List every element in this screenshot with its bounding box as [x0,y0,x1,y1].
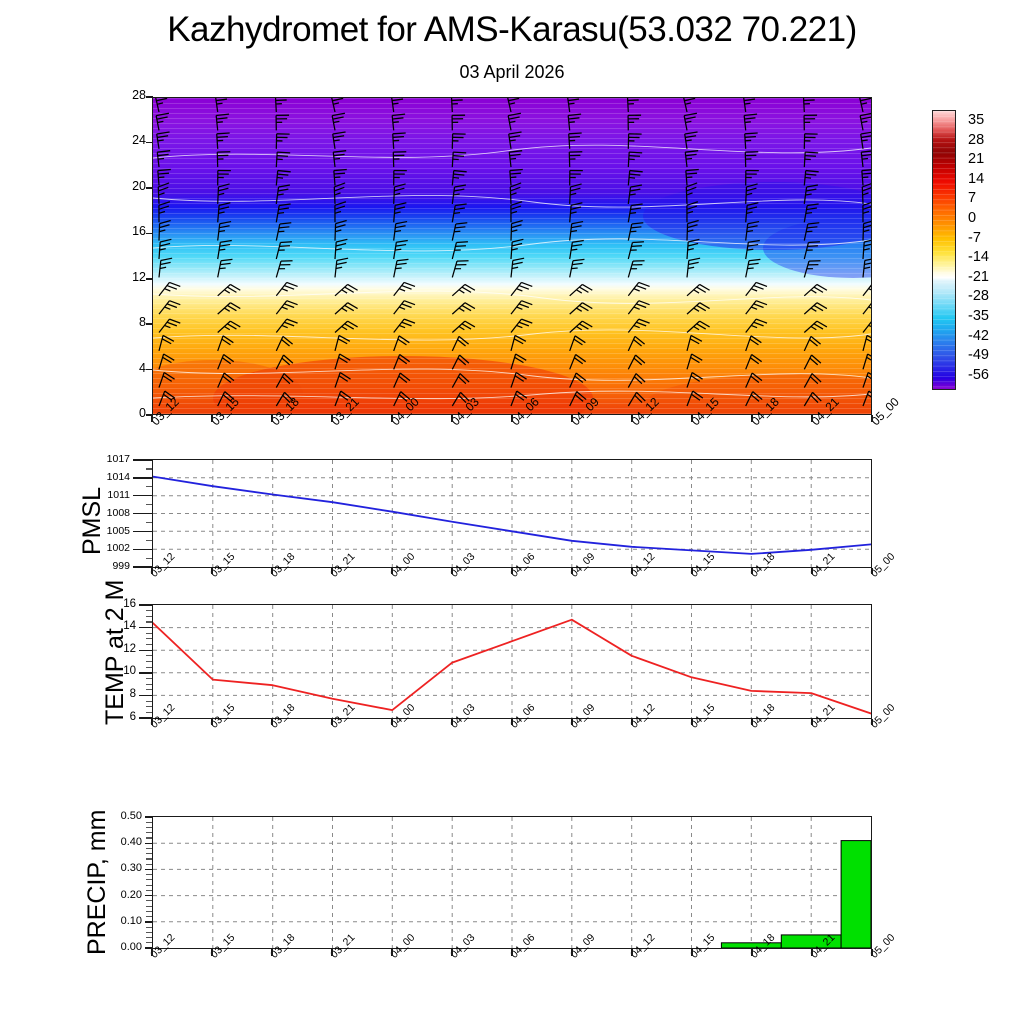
y-minor-tick [146,706,152,707]
cross-section-ytick: 20 [108,180,146,193]
x-tick-mark [511,415,513,422]
y-minor-tick [146,689,152,690]
y-tick-label: 0.50 [108,811,142,822]
y-tick-label: 1005 [100,526,130,537]
y-minor-tick [146,610,152,611]
cross-section-image [153,98,871,414]
cross-section-panel [152,97,872,415]
x-tick-mark [571,568,573,574]
x-tick-mark [511,568,513,574]
x-tick-label: 05_00 [869,551,897,579]
y-tick-label: 1002 [100,543,130,554]
y-tick-mark [133,549,152,550]
x-tick-mark [391,568,393,574]
precip-axis-title: PRECIP, mm [85,810,110,955]
x-tick-mark [691,719,693,725]
precip-bar [841,841,871,948]
y-tick-label: 0.20 [108,890,142,901]
y-minor-tick [146,879,152,880]
y-minor-tick [146,911,152,912]
precip-plot [153,817,871,948]
x-tick-mark [871,719,873,725]
cross-section-ytick-mark [146,96,153,98]
temperature-colorbar [932,110,956,390]
y-tick-label: 999 [100,561,130,572]
x-tick-label: 05_00 [869,702,897,730]
cross-section-ytick: 28 [108,89,146,102]
pmsl-line-chart [153,460,871,567]
y-tick-label: 0.30 [108,863,142,874]
pmsl-panel [152,459,872,568]
y-tick-mark [133,566,152,567]
x-tick-label: 05_00 [869,932,897,960]
x-tick-mark [691,949,693,956]
cross-section-ytick: 16 [108,225,146,238]
x-tick-label: 05_00 [869,395,901,427]
y-minor-tick [146,644,152,645]
colorbar-tick-label: 28 [968,133,984,148]
colorbar-tick-label: 7 [968,191,976,206]
y-tick-mark [133,513,152,514]
x-tick-mark [331,415,333,422]
x-tick-mark [271,949,273,956]
y-minor-tick [146,885,152,886]
colorbar-tick-label: 35 [968,113,984,128]
colorbar-tick-label: -56 [968,368,989,383]
y-tick-label: 14 [120,621,136,633]
cross-section-ytick: 0 [108,407,146,420]
y-tick-label: 1017 [100,454,130,465]
x-tick-mark [751,719,753,725]
y-tick-mark [133,459,152,460]
y-minor-tick [146,906,152,907]
y-tick-label: 1011 [100,490,130,501]
page-title: Kazhydromet for AMS-Karasu(53.032 70.221… [0,10,1024,50]
x-tick-mark [451,719,453,725]
colorbar-tick-label: -42 [968,329,989,344]
x-tick-mark [271,719,273,725]
y-minor-tick [146,864,152,865]
x-tick-mark [511,949,513,956]
y-tick-mark [145,843,152,844]
y-minor-tick [146,900,152,901]
y-minor-tick [146,468,152,469]
x-tick-mark [271,415,273,422]
x-tick-mark [211,568,213,574]
cross-section-ytick: 4 [108,362,146,375]
y-minor-tick [146,633,152,634]
y-minor-tick [146,678,152,679]
x-tick-mark [751,415,753,422]
x-tick-mark [811,719,813,725]
temp2m-panel [152,604,872,719]
y-tick-mark [139,650,152,651]
cross-section-ytick-mark [146,323,153,325]
y-minor-tick [146,540,152,541]
y-minor-tick [146,638,152,639]
x-tick-mark [631,719,633,725]
y-minor-tick [146,504,152,505]
temp2m-plot [153,605,871,718]
x-tick-mark [151,415,153,422]
colorbar-tick-label: -28 [968,289,989,304]
y-tick-label: 8 [120,689,136,701]
x-tick-mark [751,568,753,574]
y-minor-tick [146,667,152,668]
y-tick-mark [133,531,152,532]
y-tick-label: 1014 [100,472,130,483]
cross-section-ytick: 12 [108,271,146,284]
colorbar-tick-label: 21 [968,152,984,167]
precip-panel [152,816,872,949]
cross-section-ytick: 24 [108,134,146,147]
cross-section-ytick-mark [146,278,153,280]
y-minor-tick [146,486,152,487]
y-tick-mark [145,816,152,817]
y-tick-mark [139,627,152,628]
x-tick-mark [331,719,333,725]
temp2m-line-chart [153,605,871,718]
meteogram-page: Kazhydromet for AMS-Karasu(53.032 70.221… [0,0,1024,1024]
cross-section-ytick: 8 [108,316,146,329]
colorbar-gradient [933,111,955,389]
colorbar-tick-label: -7 [968,231,981,246]
x-tick-mark [211,415,213,422]
y-tick-label: 16 [120,599,136,611]
x-tick-mark [691,415,693,422]
y-tick-mark [133,495,152,496]
y-minor-tick [146,837,152,838]
y-tick-label: 6 [120,712,136,724]
y-minor-tick [146,890,152,891]
y-tick-label: 0.10 [108,916,142,927]
precip-bar-chart [153,817,871,948]
x-tick-mark [751,949,753,956]
x-tick-mark [631,568,633,574]
y-minor-tick [146,853,152,854]
x-tick-mark [631,415,633,422]
x-tick-mark [331,949,333,956]
colorbar-tick-label: -14 [968,250,989,265]
y-minor-tick [146,822,152,823]
y-minor-tick [146,932,152,933]
x-tick-mark [271,568,273,574]
colorbar-tick-label: 0 [968,211,976,226]
x-tick-mark [871,949,873,956]
y-minor-tick [146,832,152,833]
x-tick-mark [511,719,513,725]
colorbar-tick-label: 14 [968,172,984,187]
y-tick-mark [133,477,152,478]
x-tick-mark [211,719,213,725]
y-minor-tick [146,522,152,523]
x-tick-mark [811,415,813,422]
y-tick-label: 0.40 [108,837,142,848]
y-minor-tick [146,927,152,928]
y-minor-tick [146,937,152,938]
x-tick-mark [811,949,813,956]
y-minor-tick [146,916,152,917]
x-tick-mark [811,568,813,574]
y-minor-tick [146,701,152,702]
y-tick-mark [145,869,152,870]
y-tick-mark [145,895,152,896]
cross-section-ytick-mark [146,187,153,189]
x-tick-mark [571,415,573,422]
pmsl-plot [153,460,871,567]
x-tick-mark [571,719,573,725]
cross-section-plot [153,98,871,414]
x-tick-mark [391,415,393,422]
x-tick-mark [211,949,213,956]
colorbar-tick-label: -35 [968,309,989,324]
page-subtitle: 03 April 2026 [0,62,1024,83]
y-tick-mark [139,672,152,673]
y-minor-tick [146,661,152,662]
x-tick-mark [451,949,453,956]
y-tick-mark [139,695,152,696]
x-tick-mark [571,949,573,956]
colorbar-tick-label: -49 [968,348,989,363]
y-minor-tick [146,712,152,713]
x-tick-mark [151,568,153,574]
y-tick-label: 10 [120,666,136,678]
y-minor-tick [146,874,152,875]
y-tick-label: 12 [120,644,136,656]
cross-section-ytick-mark [146,142,153,144]
y-minor-tick [146,848,152,849]
x-tick-mark [391,719,393,725]
x-tick-mark [871,568,873,574]
x-tick-mark [151,949,153,956]
y-minor-tick [146,616,152,617]
x-tick-mark [151,719,153,725]
y-tick-label: 1008 [100,508,130,519]
y-minor-tick [146,827,152,828]
y-tick-label: 0.00 [108,942,142,953]
cross-section-ytick-mark [146,233,153,235]
x-tick-mark [331,568,333,574]
x-tick-mark [451,415,453,422]
colorbar-tick-label: -21 [968,270,989,285]
x-tick-mark [871,415,873,422]
y-tick-mark [145,921,152,922]
x-tick-mark [391,949,393,956]
y-minor-tick [146,558,152,559]
y-minor-tick [146,684,152,685]
y-minor-tick [146,858,152,859]
y-tick-mark [139,604,152,605]
x-tick-mark [631,949,633,956]
y-minor-tick [146,942,152,943]
y-minor-tick [146,621,152,622]
y-minor-tick [146,655,152,656]
x-tick-mark [691,568,693,574]
cross-section-ytick-mark [146,369,153,371]
x-tick-mark [451,568,453,574]
